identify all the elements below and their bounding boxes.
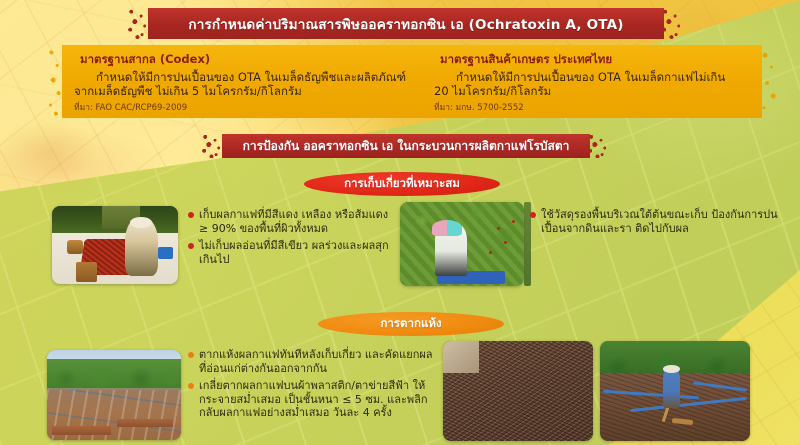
step-drying-label: การตากแห้ง [380,315,441,333]
bullet-text: ไม่เก็บผลอ่อนที่มีสีเขียว ผลร่วงและผลสุก… [199,239,393,267]
step-harvest-bullets-mid: เก็บผลกาแฟที่มีสีแดง เหลือง หรือส้มแดง ≥… [188,208,393,269]
blue-container [158,247,173,259]
section-title-banner: การป้องกัน ออคราทอกซิน เอ ในกระบวนการผลิ… [222,134,590,158]
standard-codex-line1: กำหนดให้มีการปนเปื้อนของ OTA ในเมล็ดธัญพ… [74,70,412,84]
standard-thailand-source: ที่มา: มกษ. 5700-2552 [434,100,752,114]
step-drying-pill: การตากแห้ง [318,312,504,336]
section-banner-grunge-right [586,134,612,158]
dried-coffee-beans-closeup-photo [443,341,593,441]
basket-large [76,262,97,282]
standard-codex-heading: มาตรฐานสากล (Codex) [80,51,412,69]
bullet-text: ตากแห้งผลกาแฟทันทีหลังเก็บเกี่ยว และคัดแ… [199,348,433,376]
drying-bed [117,419,173,427]
section-title: การป้องกัน ออคราทอกซิน เอ ในกระบวนการผลิ… [243,137,570,156]
section-banner-grunge-left [200,134,226,158]
step-drying-bullets: ตากแห้งผลกาแฟทันทีหลังเก็บเกี่ยว และคัดแ… [188,348,433,423]
bullet-text: เก็บผลกาแฟที่มีสีแดง เหลือง หรือส้มแดง ≥… [199,208,393,236]
page-title: การกำหนดค่าปริมาณสารพิษออคราทอกซิน เอ (O… [188,13,623,35]
bullet-text: ใช้วัสดุรองพื้นบริเวณใต้ต้นขณะเก็บ ป้องก… [541,208,780,236]
step-harvest-label: การเก็บเกี่ยวที่เหมาะสม [344,175,460,193]
poster-title-banner: การกำหนดค่าปริมาณสารพิษออคราทอกซิน เอ (O… [148,8,664,39]
standard-thailand-line1: กำหนดให้มีการปนเปื้อนของ OTA ในเมล็ดกาแฟ… [434,70,752,84]
worker-raking-drying-beans-photo [600,341,750,441]
standard-codex-source: ที่มา: FAO CAC/RCP69-2009 [74,100,412,114]
worker-figure [663,368,680,408]
tree-line [47,359,181,388]
standard-thailand-heading: มาตรฐานสินค้าเกษตร ประเทศไทย [440,51,752,69]
ground-edge [443,341,479,373]
basket-small [67,240,83,254]
banner-grunge-left [126,8,152,39]
bullet-dot-icon [188,243,194,249]
worker-harvesting-coffee-photo [400,202,524,286]
coffee-berry [497,227,500,230]
standard-thailand-line2: 20 ไมโครกรัม/กิโลกรัม [434,84,551,98]
drying-yard-overview-photo [47,350,181,440]
bullet-dot-icon [530,212,536,218]
standard-thailand: มาตรฐานสินค้าเกษตร ประเทศไทย กำหนดให้มีก… [422,45,762,118]
list-item: ไม่เก็บผลอ่อนที่มีสีเขียว ผลร่วงและผลสุก… [188,239,393,267]
red-coffee-cherries-on-tarp-photo [52,206,178,284]
list-item: ตากแห้งผลกาแฟทันทีหลังเก็บเกี่ยว และคัดแ… [188,348,433,376]
list-item: ใช้วัสดุรองพื้นบริเวณใต้ต้นขณะเก็บ ป้องก… [530,208,780,236]
worker-hat [130,217,151,228]
bullet-text: เกลี่ยตากผลกาแฟบนผ้าพลาสติก/ตาข่ายสีฟ้า … [199,379,433,421]
list-item: เก็บผลกาแฟที่มีสีแดง เหลือง หรือส้มแดง ≥… [188,208,393,236]
standards-panel: มาตรฐานสากล (Codex) กำหนดให้มีการปนเปื้อ… [62,45,762,118]
worker-hat [663,365,680,373]
standard-codex-body: กำหนดให้มีการปนเปื้อนของ OTA ในเมล็ดธัญพ… [74,70,412,98]
list-item: เกลี่ยตากผลกาแฟบนผ้าพลาสติก/ตาข่ายสีฟ้า … [188,379,433,421]
infographic-poster: การกำหนดค่าปริมาณสารพิษออคราทอกซิน เอ (O… [0,0,800,445]
standard-codex-line2: จากเมล็ดธัญพืช ไม่เกิน 5 ไมโครกรัม/กิโลก… [74,84,302,98]
step-harvest-bullets-right: ใช้วัสดุรองพื้นบริเวณใต้ต้นขณะเก็บ ป้องก… [530,208,780,239]
bullet-dot-icon [188,383,194,389]
step-harvest-pill: การเก็บเกี่ยวที่เหมาะสม [304,172,500,196]
coffee-berry [504,241,507,244]
standard-codex: มาตรฐานสากล (Codex) กำหนดให้มีการปนเปื้อ… [62,45,422,118]
worker-hat [432,220,462,235]
standard-thailand-body: กำหนดให้มีการปนเปื้อนของ OTA ในเมล็ดกาแฟ… [434,70,752,98]
bullet-dot-icon [188,212,194,218]
drying-bed [52,426,111,435]
bullet-dot-icon [188,352,194,358]
banner-grunge-right [660,8,686,39]
